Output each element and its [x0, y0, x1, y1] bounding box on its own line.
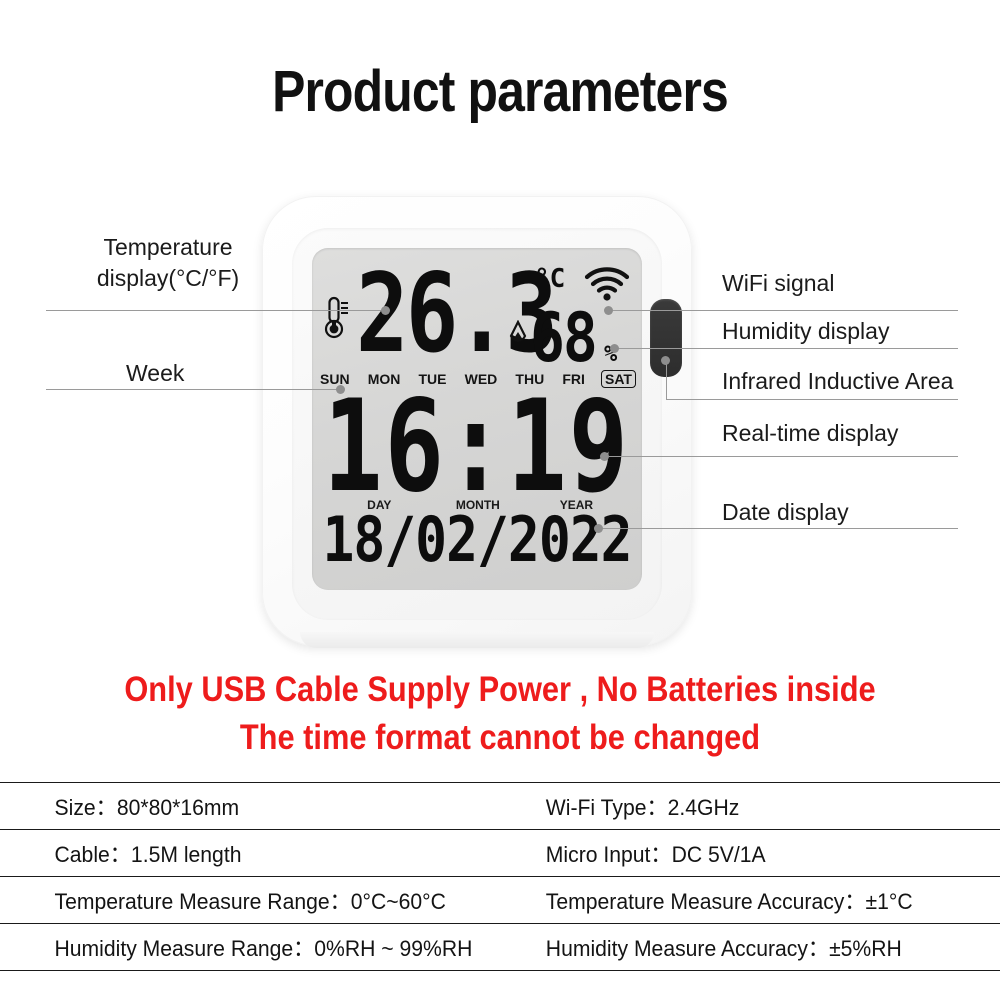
leader-line-week — [46, 389, 341, 390]
date-value: 18/02/2022 — [322, 509, 631, 572]
callout-real-time-display: Real-time display — [722, 418, 898, 449]
spec-cell-right: Temperature Measure Accuracy：±1°C — [527, 877, 972, 924]
leader-line-real-time — [606, 456, 958, 457]
leader-line-temperature — [46, 310, 386, 311]
humidity-droplet-icon — [508, 320, 528, 353]
callout-week: Week — [126, 358, 184, 389]
leader-dot-temperature — [381, 306, 390, 315]
temperature-unit: °C — [534, 264, 565, 294]
leader-dot-real-time — [600, 452, 609, 461]
leader-line-wifi — [610, 310, 958, 311]
date-display: 18/02/2022 — [312, 514, 642, 567]
spec-cell-right: Micro Input：DC 5V/1A — [527, 830, 972, 877]
callout-humidity-display: Humidity display — [722, 316, 889, 347]
spec-row: Humidity Measure Range：0%RH ~ 99%RHHumid… — [0, 924, 1000, 971]
spec-row: Cable：1.5M lengthMicro Input：DC 5V/1A — [0, 830, 1000, 877]
leader-line-infrared-vertical — [666, 360, 667, 400]
time-display: 16:19 — [312, 394, 642, 498]
callout-infrared-inductive-area: Infrared Inductive Area — [722, 366, 953, 397]
temperature-row: 26.3 °C 68 % — [312, 260, 642, 355]
callout-date-display: Date display — [722, 497, 849, 528]
humidity-value: 68 — [530, 304, 596, 371]
lcd-screen: 26.3 °C 68 % — [312, 248, 642, 590]
warning-line-2: The time format cannot be changed — [60, 718, 940, 758]
device-base — [300, 632, 654, 648]
leader-dot-wifi — [604, 306, 613, 315]
leader-line-humidity — [616, 348, 958, 349]
page-title: Product parameters — [70, 58, 930, 125]
spec-cell-right: Humidity Measure Accuracy：±5%RH — [527, 924, 972, 971]
callout-temperature-display: Temperature display(°C/°F) — [68, 232, 268, 294]
time-value: 16:19 — [324, 383, 631, 510]
spec-row: Size：80*80*16mmWi-Fi Type：2.4GHz — [0, 783, 1000, 830]
callout-wifi-signal: WiFi signal — [722, 268, 834, 299]
leader-dot-humidity — [610, 344, 619, 353]
leader-dot-date — [594, 524, 603, 533]
spec-cell-right: Wi-Fi Type：2.4GHz — [527, 783, 972, 830]
spec-row: Temperature Measure Range：0°C~60°CTemper… — [0, 877, 1000, 924]
warning-line-1: Only USB Cable Supply Power , No Batteri… — [60, 670, 940, 710]
spec-cell-left: Size：80*80*16mm — [0, 783, 495, 830]
leader-dot-infrared — [661, 356, 670, 365]
spec-table: Size：80*80*16mmWi-Fi Type：2.4GHzCable：1.… — [0, 782, 1000, 971]
spec-cell-left: Humidity Measure Range：0%RH ~ 99%RH — [0, 924, 495, 971]
leader-line-infrared — [667, 399, 958, 400]
leader-dot-week — [336, 385, 345, 394]
product-parameters-page: Product parameters — [0, 0, 1000, 1000]
spec-cell-left: Cable：1.5M length — [0, 830, 495, 877]
leader-line-date — [600, 528, 958, 529]
thermometer-icon — [324, 296, 350, 345]
spec-cell-left: Temperature Measure Range：0°C~60°C — [0, 877, 495, 924]
